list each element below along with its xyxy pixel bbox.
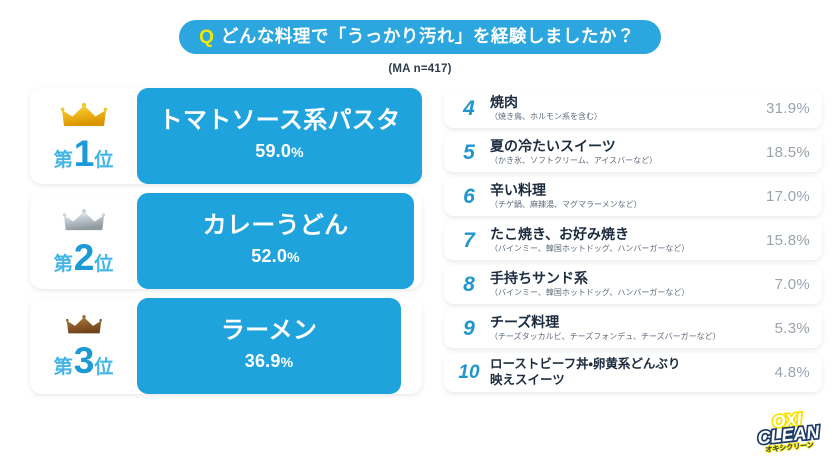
bronze-crown-icon: [66, 315, 102, 341]
list-percent-4: 31.9%: [758, 100, 810, 117]
rank-label-3: 第 3 位: [54, 342, 114, 379]
rank-percent-value-1: 59.0: [255, 141, 291, 161]
list-percent-10: 4.8%: [767, 364, 810, 381]
sample-size-label: (MA n=417): [388, 63, 451, 75]
silver-crown-icon: [63, 209, 105, 238]
list-name-5: 夏の冷たいスイーツ: [490, 139, 758, 155]
rank-prefix: 第: [54, 255, 73, 274]
rank-bar-1: トマトソース系パスタ 59.0%: [137, 88, 422, 184]
rank-name-1: トマトソース系パスタ: [159, 108, 401, 134]
list-number-10: 10: [454, 363, 484, 382]
list-text-5: 夏の冷たいスイーツ （かき氷、ソフトクリーム、アイスバーなど）: [484, 139, 758, 166]
list-number-6: 6: [454, 186, 484, 207]
rank-percent-2: 52.0%: [251, 246, 300, 267]
list-percent-8: 7.0%: [767, 276, 810, 293]
rank-name-3: ラーメン: [221, 318, 317, 344]
rank-badge-1: 第 1 位: [30, 88, 137, 184]
rank-number: 1: [74, 135, 94, 172]
rank-badge-3: 第 3 位: [30, 298, 137, 394]
rank-suffix: 位: [94, 358, 113, 377]
rank-number: 3: [74, 342, 94, 379]
list-name-4: 焼肉: [490, 95, 758, 111]
rank-label-1: 第 1 位: [54, 135, 114, 172]
list-text-9: チーズ料理 （チーズタッカルビ、チーズフォンデュ、チーズバーガーなど）: [484, 315, 767, 342]
list-sub-9: （チーズタッカルビ、チーズフォンデュ、チーズバーガーなど）: [490, 332, 767, 342]
list-name-6: 辛い料理: [490, 183, 758, 199]
list-number-8: 8: [454, 274, 484, 295]
list-sub-4: （焼き鳥、ホルモン系を含む）: [490, 112, 758, 122]
rank-prefix: 第: [54, 151, 73, 170]
question-q-icon: Q: [199, 28, 214, 47]
percent-unit: %: [281, 354, 294, 370]
rank-percent-3: 36.9%: [245, 351, 294, 372]
list-percent-7: 15.8%: [758, 232, 810, 249]
list-percent-5: 18.5%: [758, 144, 810, 161]
results-body: 第 1 位 トマトソース系パスタ 59.0%: [0, 75, 840, 394]
list-item-9: 9 チーズ料理 （チーズタッカルビ、チーズフォンデュ、チーズバーガーなど） 5.…: [444, 309, 822, 348]
list-text-7: たこ焼き、お好み焼き （バインミー、韓国ホットドッグ、ハンバーガーなど）: [484, 227, 758, 254]
question-text: どんな料理で「うっかり汚れ」を経験しましたか？: [221, 28, 635, 46]
list-sub-8: （バインミー、韓国ホットドッグ、ハンバーガーなど）: [490, 288, 767, 298]
list-number-7: 7: [454, 230, 484, 251]
list-name-8: 手持ちサンド系: [490, 271, 767, 287]
list-item-7: 7 たこ焼き、お好み焼き （バインミー、韓国ホットドッグ、ハンバーガーなど） 1…: [444, 221, 822, 260]
list-text-10: ローストビーフ丼・卵黄系どんぶり映えスイーツ: [484, 357, 767, 388]
rank-percent-1: 59.0%: [255, 141, 304, 162]
rank-list-column: 4 焼肉 （焼き鳥、ホルモン系を含む） 31.9% 5 夏の冷たいスイーツ （か…: [444, 88, 822, 394]
list-item-10: 10 ローストビーフ丼・卵黄系どんぶり映えスイーツ 4.8%: [444, 353, 822, 392]
list-name-7: たこ焼き、お好み焼き: [490, 227, 758, 243]
rank-card-3: 第 3 位 ラーメン 36.9%: [30, 298, 422, 394]
list-text-8: 手持ちサンド系 （バインミー、韓国ホットドッグ、ハンバーガーなど）: [484, 271, 767, 298]
percent-unit: %: [287, 249, 300, 265]
list-percent-9: 5.3%: [767, 320, 810, 337]
list-number-4: 4: [454, 98, 484, 119]
rank-bar-2: カレーうどん 52.0%: [137, 193, 414, 289]
percent-unit: %: [291, 144, 304, 160]
rank-percent-value-3: 36.9: [245, 351, 281, 371]
rank-number: 2: [74, 239, 94, 276]
rank-card-2: 第 2 位 カレーうどん 52.0%: [30, 193, 422, 289]
rank-badge-2: 第 2 位: [30, 193, 137, 289]
list-item-6: 6 辛い料理 （チゲ鍋、麻辣湯、マグマラーメンなど） 17.0%: [444, 177, 822, 216]
list-text-6: 辛い料理 （チゲ鍋、麻辣湯、マグマラーメンなど）: [484, 183, 758, 210]
oxiclean-logo: OXI CLEAN オキシクリーン: [744, 407, 832, 455]
rank-card-1: 第 1 位 トマトソース系パスタ 59.0%: [30, 88, 422, 184]
list-number-9: 9: [454, 318, 484, 339]
question-pill: Q どんな料理で「うっかり汚れ」を経験しましたか？: [179, 20, 661, 54]
top-three-column: 第 1 位 トマトソース系パスタ 59.0%: [30, 88, 422, 394]
rank-bar-3: ラーメン 36.9%: [137, 298, 401, 394]
list-item-5: 5 夏の冷たいスイーツ （かき氷、ソフトクリーム、アイスバーなど） 18.5%: [444, 133, 822, 172]
rank-suffix: 位: [94, 151, 113, 170]
rank-percent-value-2: 52.0: [251, 246, 287, 266]
list-number-5: 5: [454, 142, 484, 163]
list-name-9: チーズ料理: [490, 315, 767, 331]
header: Q どんな料理で「うっかり汚れ」を経験しましたか？ (MA n=417): [0, 0, 840, 75]
rank-suffix: 位: [94, 255, 113, 274]
rank-name-2: カレーうどん: [203, 213, 349, 239]
list-sub-7: （バインミー、韓国ホットドッグ、ハンバーガーなど）: [490, 244, 758, 254]
list-item-4: 4 焼肉 （焼き鳥、ホルモン系を含む） 31.9%: [444, 89, 822, 128]
rank-label-2: 第 2 位: [54, 239, 114, 276]
list-item-8: 8 手持ちサンド系 （バインミー、韓国ホットドッグ、ハンバーガーなど） 7.0%: [444, 265, 822, 304]
gold-crown-icon: [61, 103, 107, 134]
list-sub-6: （チゲ鍋、麻辣湯、マグマラーメンなど）: [490, 200, 758, 210]
list-percent-6: 17.0%: [758, 188, 810, 205]
rank-prefix: 第: [54, 358, 73, 377]
list-text-4: 焼肉 （焼き鳥、ホルモン系を含む）: [484, 95, 758, 122]
list-name-10: ローストビーフ丼・卵黄系どんぶり映えスイーツ: [490, 357, 767, 388]
list-sub-5: （かき氷、ソフトクリーム、アイスバーなど）: [490, 156, 758, 166]
